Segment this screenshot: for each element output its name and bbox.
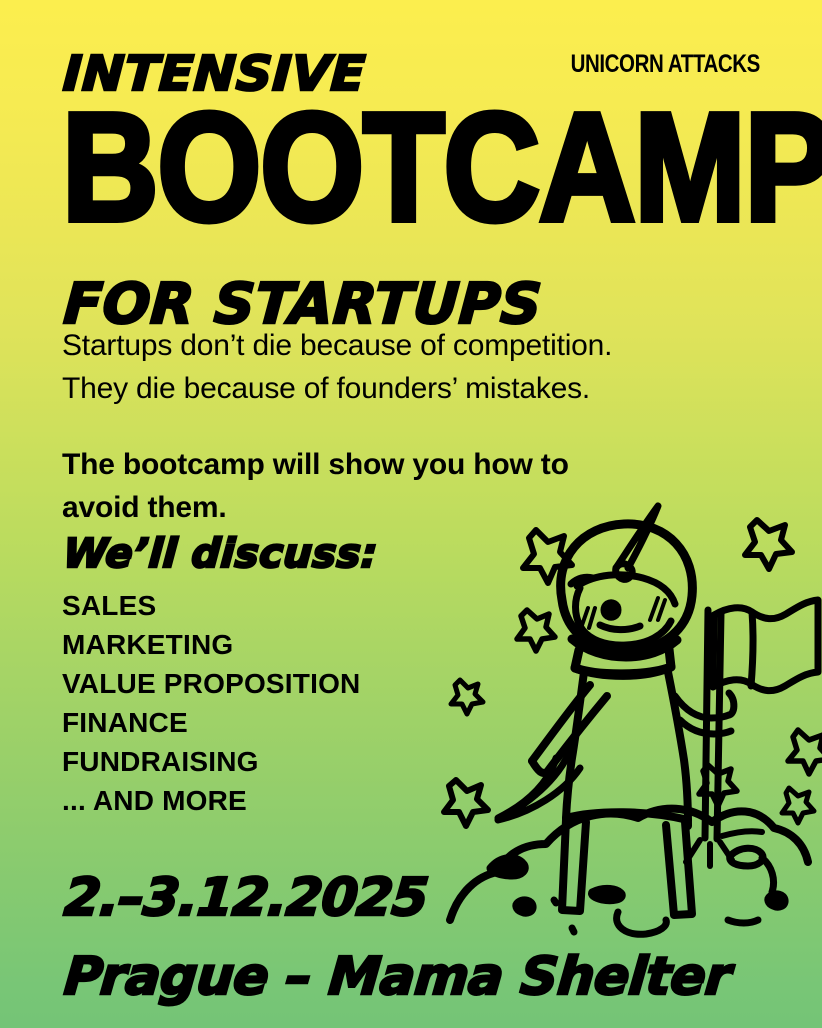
star-icon [788, 730, 822, 774]
topics-section: We’ll discuss: SALES MARKETING VALUE PRO… [62, 533, 482, 820]
page-title: BOOTCAMP [62, 104, 822, 230]
poster-canvas: UNICORN ATTACKS INTENSIVE BOOTCAMP FOR S… [0, 0, 822, 1028]
topic-item: MARKETING [62, 626, 482, 665]
space-helmet [561, 524, 693, 657]
topic-item: VALUE PROPOSITION [62, 665, 482, 704]
flag-base-marks [686, 831, 762, 866]
event-date: 2.–3.12.2025 [62, 870, 733, 927]
flag-pole [705, 610, 721, 839]
star-icon [523, 530, 572, 583]
topics-heading: We’ll discuss: [62, 533, 485, 575]
topics-list: SALES MARKETING VALUE PROPOSITION FINANC… [62, 587, 482, 820]
star-icon [699, 765, 737, 806]
unicorn-arm [532, 685, 607, 773]
lede-line-2: They die because of founders’ mistakes. [62, 368, 762, 411]
visor-shine [581, 598, 665, 628]
star-icon [782, 788, 814, 823]
event-details: 2.–3.12.2025 Prague – Mama Shelter [62, 870, 728, 1006]
flag-on-pole [713, 600, 818, 691]
topic-item: ... AND MORE [62, 782, 482, 821]
unicorn-tail [498, 740, 580, 820]
topic-item: FUNDRAISING [62, 743, 482, 782]
emphasis-line-2: avoid them. [62, 486, 762, 530]
unicorn-face [571, 575, 675, 645]
emphasis-line-1: The bootcamp will show you how to [62, 443, 762, 487]
helmet-collar [575, 649, 671, 675]
star-icon [517, 610, 555, 651]
event-venue: Prague – Mama Shelter [62, 949, 733, 1006]
unicorn-hand [675, 693, 734, 734]
topic-item: FINANCE [62, 704, 482, 743]
topic-item: SALES [62, 587, 482, 626]
body-copy: Startups don’t die because of competitio… [62, 325, 762, 530]
headline-block: INTENSIVE BOOTCAMP FOR STARTUPS [62, 36, 782, 333]
lede-line-1: Startups don’t die because of competitio… [62, 325, 762, 368]
